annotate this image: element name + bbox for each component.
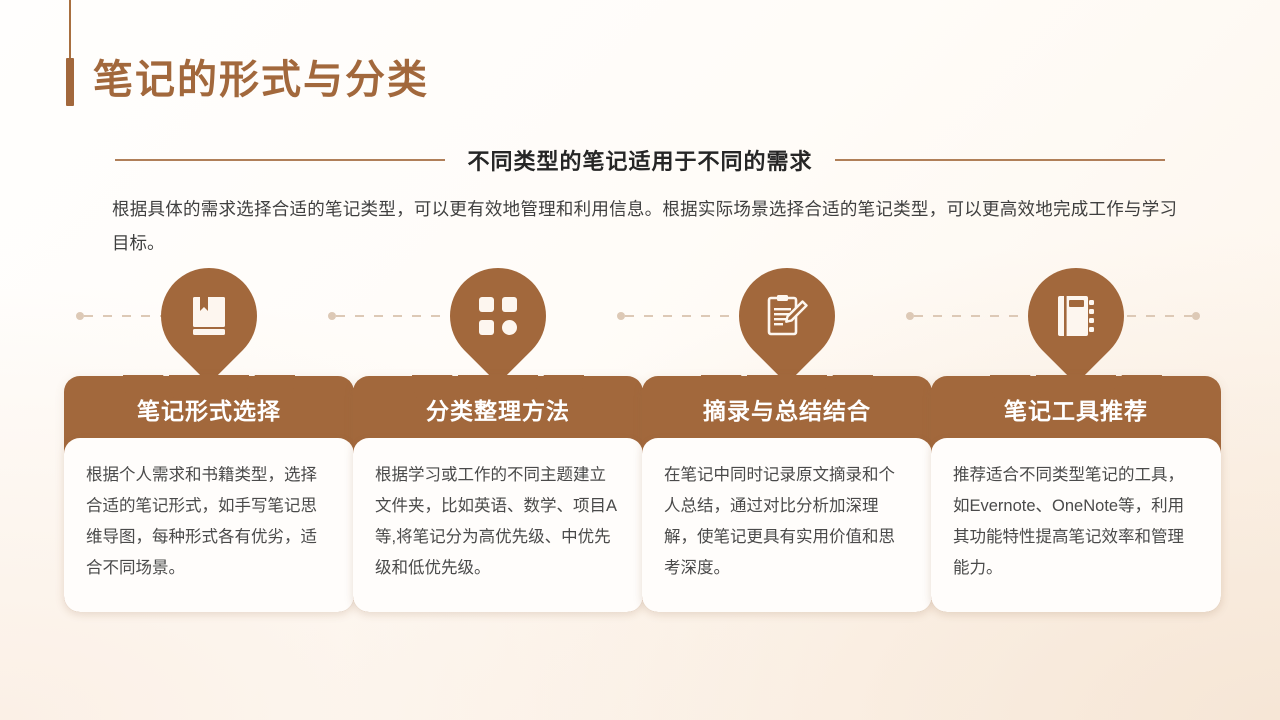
card-title: 笔记工具推荐	[931, 376, 1221, 438]
card-title: 笔记形式选择	[64, 376, 354, 438]
card-column-2[interactable]: 分类整理方法 根据学习或工作的不同主题建立文件夹，比如英语、数学、项目A等,将笔…	[353, 268, 643, 612]
pin-marker-3[interactable]	[739, 268, 835, 392]
notebook-icon	[1028, 268, 1124, 364]
card-2[interactable]: 分类整理方法 根据学习或工作的不同主题建立文件夹，比如英语、数学、项目A等,将笔…	[353, 376, 643, 612]
card-row: 笔记形式选择 根据个人需求和书籍类型，选择合适的笔记形式，如手写笔记思维导图，每…	[0, 0, 1280, 720]
card-column-4[interactable]: 笔记工具推荐 推荐适合不同类型笔记的工具，如Evernote、OneNote等，…	[931, 268, 1221, 612]
pin-marker-4[interactable]	[1028, 268, 1124, 392]
card-3[interactable]: 摘录与总结结合 在笔记中同时记录原文摘录和个人总结，通过对比分析加深理解，使笔记…	[642, 376, 932, 612]
slide-canvas: 笔记的形式与分类 不同类型的笔记适用于不同的需求 根据具体的需求选择合适的笔记类…	[0, 0, 1280, 720]
grid-squares-icon	[450, 268, 546, 364]
card-body: 推荐适合不同类型笔记的工具，如Evernote、OneNote等，利用其功能特性…	[931, 438, 1221, 612]
card-column-3[interactable]: 摘录与总结结合 在笔记中同时记录原文摘录和个人总结，通过对比分析加深理解，使笔记…	[642, 268, 932, 612]
card-column-1[interactable]: 笔记形式选择 根据个人需求和书籍类型，选择合适的笔记形式，如手写笔记思维导图，每…	[64, 268, 354, 612]
card-body: 在笔记中同时记录原文摘录和个人总结，通过对比分析加深理解，使笔记更具有实用价值和…	[642, 438, 932, 612]
book-icon	[161, 268, 257, 364]
card-body: 根据学习或工作的不同主题建立文件夹，比如英语、数学、项目A等,将笔记分为高优先级…	[353, 438, 643, 612]
clipboard-pencil-icon	[739, 268, 835, 364]
card-title: 分类整理方法	[353, 376, 643, 438]
card-title: 摘录与总结结合	[642, 376, 932, 438]
card-4[interactable]: 笔记工具推荐 推荐适合不同类型笔记的工具，如Evernote、OneNote等，…	[931, 376, 1221, 612]
pin-marker-2[interactable]	[450, 268, 546, 392]
card-1[interactable]: 笔记形式选择 根据个人需求和书籍类型，选择合适的笔记形式，如手写笔记思维导图，每…	[64, 376, 354, 612]
card-body: 根据个人需求和书籍类型，选择合适的笔记形式，如手写笔记思维导图，每种形式各有优劣…	[64, 438, 354, 612]
pin-marker-1[interactable]	[161, 268, 257, 392]
